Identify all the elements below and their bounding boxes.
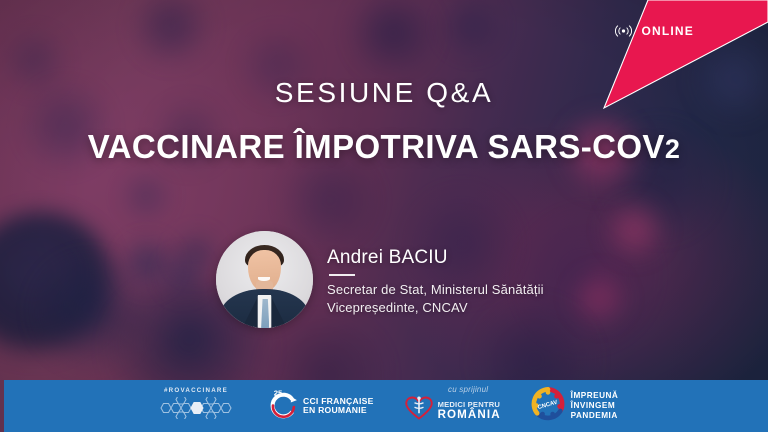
cncav-line-3: PANDEMIA bbox=[571, 411, 619, 421]
medici-line-2: ROMÂNIA bbox=[438, 409, 501, 421]
speaker-name-rule bbox=[329, 274, 355, 276]
medici-support-label: cu sprijinul bbox=[448, 386, 488, 394]
broadcast-icon bbox=[615, 24, 632, 38]
footer-logos: #ROVACCINARE bbox=[156, 386, 618, 426]
logo-rovaccinare[interactable]: #ROVACCINARE bbox=[156, 388, 236, 423]
slide-canvas: ONLINE SESIUNE Q&A VACCINARE ÎMPOTRIVA S… bbox=[0, 0, 768, 432]
speaker-role-line-2: Vicepreședinte, CNCAV bbox=[327, 299, 544, 317]
logo-cci-francaise[interactable]: 25 CCI FRANÇAISE EN ROUMANIE bbox=[266, 387, 374, 426]
speaker-details: Andrei BACIU Secretar de Stat, Ministeru… bbox=[327, 241, 544, 318]
speaker-portrait bbox=[216, 231, 313, 328]
svg-text:CNCAV: CNCAV bbox=[537, 399, 558, 410]
cncav-wordmark: ÎMPREUNĂ ÎNVINGEM PANDEMIA bbox=[571, 391, 619, 420]
cci-wordmark: CCI FRANÇAISE EN ROUMANIE bbox=[303, 397, 374, 415]
cncav-line-2: ÎNVINGEM bbox=[571, 401, 619, 411]
page-title-suffix: 2 bbox=[665, 134, 680, 164]
online-badge-content: ONLINE bbox=[615, 24, 694, 38]
rovaccinare-tagline: #ROVACCINARE bbox=[164, 388, 228, 394]
heading-block: SESIUNE Q&A VACCINARE ÎMPOTRIVA SARS-COV… bbox=[0, 78, 768, 165]
heart-caduceus-icon bbox=[404, 395, 434, 426]
cci-c-icon: 25 bbox=[266, 387, 300, 426]
cci-line-2: EN ROUMANIE bbox=[303, 406, 374, 415]
logo-medici-pentru-romania[interactable]: cu sprijinul MEDICI PENTRU ROMÂNI bbox=[404, 386, 501, 426]
online-label: ONLINE bbox=[641, 25, 694, 37]
speaker-name: Andrei BACIU bbox=[327, 247, 544, 269]
footer-logo-bar: #ROVACCINARE bbox=[4, 380, 768, 432]
speaker-role-line-1: Secretar de Stat, Ministerul Sănătății bbox=[327, 281, 544, 299]
page-title-main: VACCINARE ÎMPOTRIVA SARS-COV bbox=[88, 128, 665, 165]
speaker-block: Andrei BACIU Secretar de Stat, Ministeru… bbox=[216, 231, 544, 328]
cncav-line-1: ÎMPREUNĂ bbox=[571, 391, 619, 401]
medici-wordmark: MEDICI PENTRU ROMÂNIA bbox=[438, 401, 501, 420]
page-title: VACCINARE ÎMPOTRIVA SARS-COV2 bbox=[40, 129, 728, 165]
medici-row: MEDICI PENTRU ROMÂNIA bbox=[404, 395, 501, 426]
logo-impreuna-invingem-pandemia[interactable]: CNCAV ÎMPREUNĂ ÎNVINGEM PANDEMIA bbox=[531, 387, 619, 426]
people-circle-icon: CNCAV bbox=[531, 387, 565, 426]
avatar bbox=[216, 231, 313, 328]
honeycomb-icon bbox=[156, 397, 236, 424]
session-eyebrow: SESIUNE Q&A bbox=[40, 78, 728, 109]
